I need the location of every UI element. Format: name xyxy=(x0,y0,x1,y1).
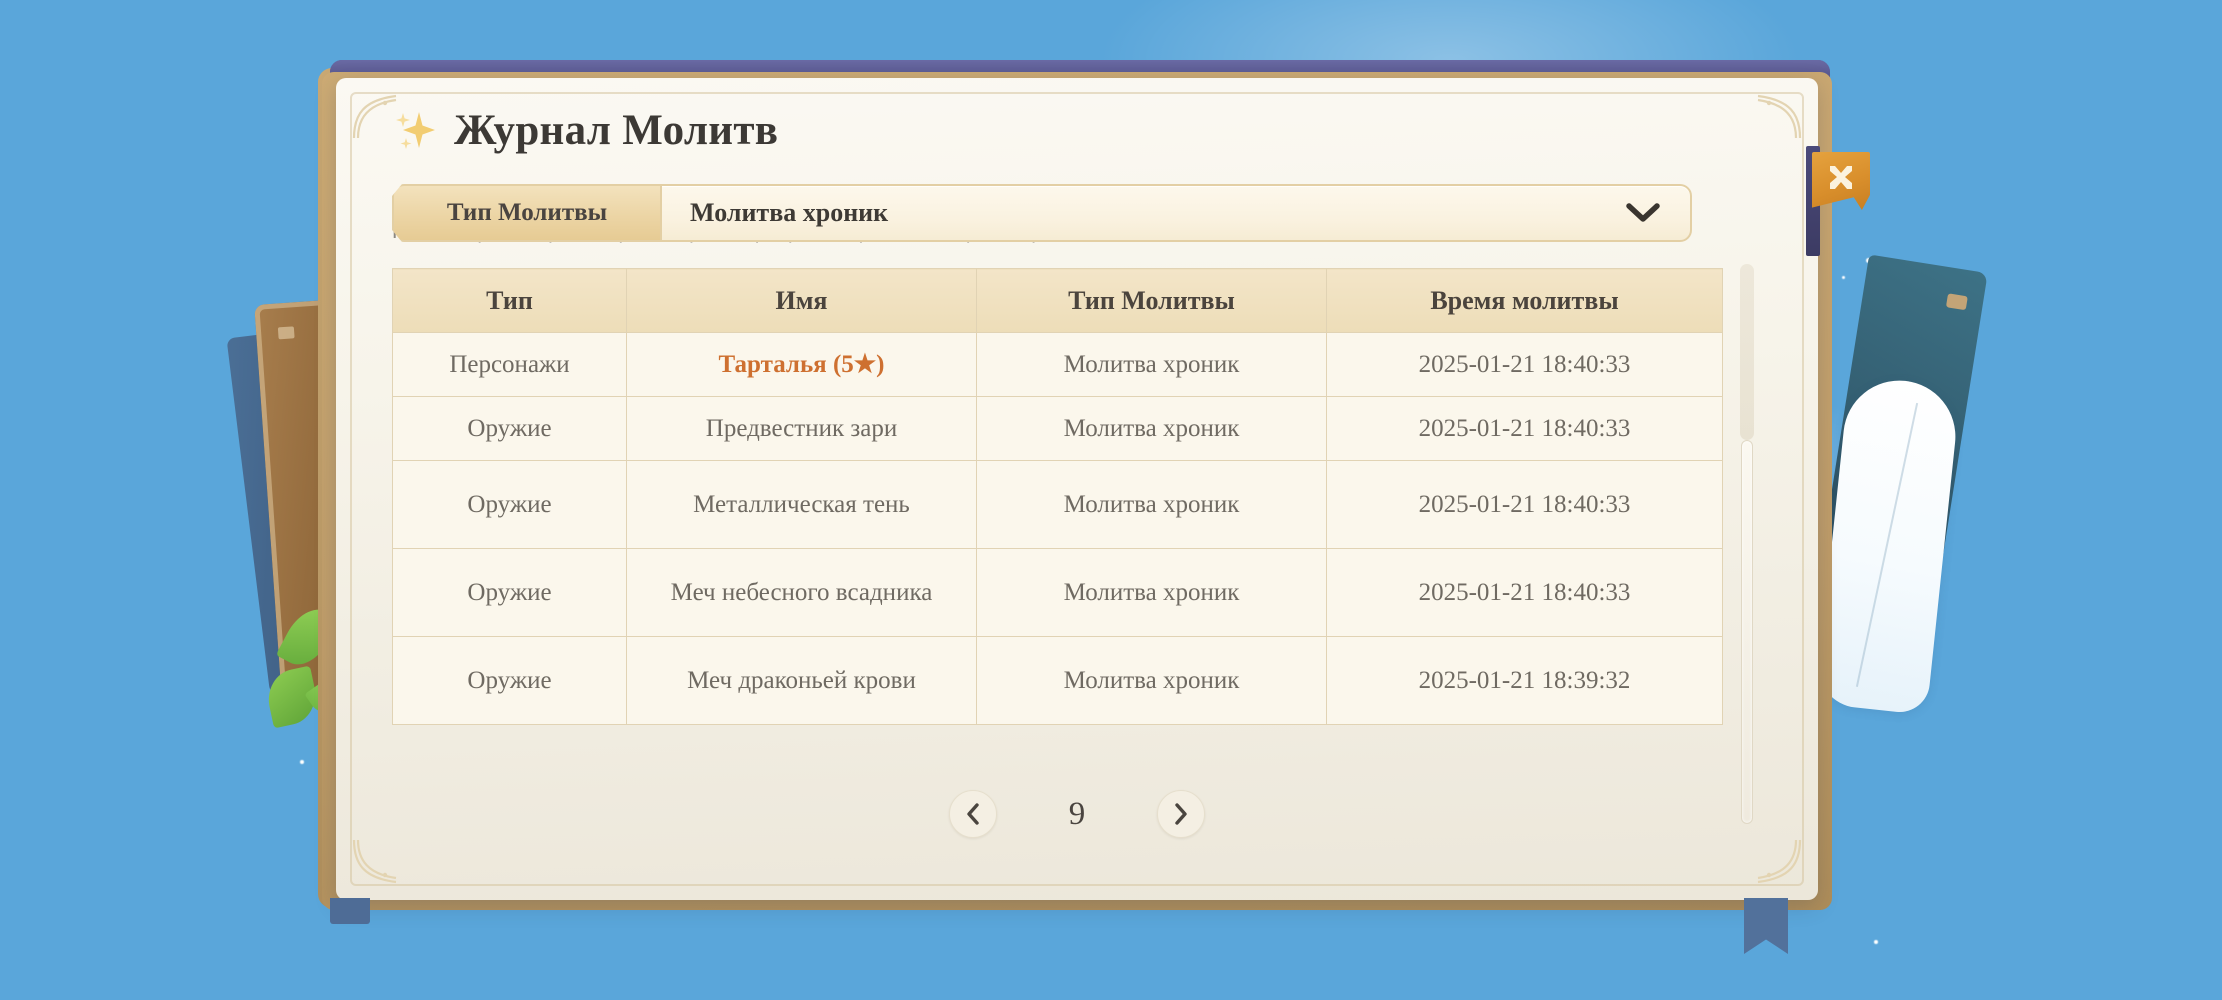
cell-wish-type: Молитва хроник xyxy=(977,397,1327,461)
scrollbar-thumb[interactable] xyxy=(1741,440,1753,824)
table-row: ОружиеПредвестник зариМолитва хроник2025… xyxy=(393,397,1723,461)
cell-wish-type: Молитва хроник xyxy=(977,637,1327,725)
close-button[interactable] xyxy=(1812,152,1870,210)
cell-time: 2025-01-21 18:40:33 xyxy=(1327,333,1723,397)
cell-time: 2025-01-21 18:39:32 xyxy=(1327,637,1723,725)
scrollbar[interactable] xyxy=(1740,264,1754,824)
table-row: ОружиеМеталлическая теньМолитва хроник20… xyxy=(393,461,1723,549)
cell-type: Оружие xyxy=(393,549,627,637)
wish-type-filter: Тип Молитвы Молитва хроник xyxy=(392,184,1692,242)
cell-time: 2025-01-21 18:40:33 xyxy=(1327,461,1723,549)
cell-name: Металлическая тень xyxy=(627,461,977,549)
cell-wish-type: Молитва хроник xyxy=(977,333,1327,397)
cell-time: 2025-01-21 18:40:33 xyxy=(1327,549,1723,637)
corner-ornament-icon xyxy=(1756,838,1802,884)
current-page-number: 9 xyxy=(1057,796,1097,833)
sparkle-icon xyxy=(392,108,438,154)
cell-name: Меч драконьей крови xyxy=(627,637,977,725)
table-row: ПерсонажиТарталья (5★)Молитва хроник2025… xyxy=(393,333,1723,397)
corner-ornament-icon xyxy=(352,838,398,884)
chevron-down-icon xyxy=(1626,202,1660,224)
page-title: Журнал Молитв xyxy=(454,106,778,155)
pagination: 9 xyxy=(336,790,1818,838)
table-header-row: Тип Имя Тип Молитвы Время молитвы xyxy=(393,269,1723,333)
scrollbar-track-upper xyxy=(1740,264,1754,440)
bookmark-ribbon-left xyxy=(330,898,370,924)
table-row: ОружиеМеч небесного всадникаМолитва хрон… xyxy=(393,549,1723,637)
cell-name: Меч небесного всадника xyxy=(627,549,977,637)
close-x-icon xyxy=(1821,160,1861,198)
sparkle-dot xyxy=(300,760,304,764)
sparkle-dot xyxy=(1842,276,1845,279)
table-row: ОружиеМеч драконьей кровиМолитва хроник2… xyxy=(393,637,1723,725)
wish-history-table: Тип Имя Тип Молитвы Время молитвы Персон… xyxy=(392,268,1723,725)
title-row: Журнал Молитв xyxy=(392,106,778,155)
cell-name: Тарталья (5★) xyxy=(627,333,977,397)
previous-page-button[interactable] xyxy=(949,790,997,838)
corner-ornament-icon xyxy=(1756,94,1802,140)
cell-name: Предвестник зари xyxy=(627,397,977,461)
chevron-right-icon xyxy=(1171,802,1191,826)
cell-type: Оружие xyxy=(393,461,627,549)
wish-type-selected-value: Молитва хроник xyxy=(690,198,888,228)
sparkle-dot xyxy=(1874,940,1878,944)
cell-wish-type: Молитва хроник xyxy=(977,549,1327,637)
next-page-button[interactable] xyxy=(1157,790,1205,838)
cell-wish-type: Молитва хроник xyxy=(977,461,1327,549)
cell-type: Оружие xyxy=(393,397,627,461)
table-header: Тип Имя Тип Молитвы Время молитвы xyxy=(393,269,1723,333)
cell-time: 2025-01-21 18:40:33 xyxy=(1327,397,1723,461)
wish-type-select[interactable]: Молитва хроник xyxy=(660,184,1692,242)
filter-label: Тип Молитвы xyxy=(392,184,660,242)
column-header-name: Имя xyxy=(627,269,977,333)
column-header-time: Время молитвы xyxy=(1327,269,1723,333)
cell-type: Оружие xyxy=(393,637,627,725)
wish-history-table-wrapper: Тип Имя Тип Молитвы Время молитвы Персон… xyxy=(392,268,1722,725)
chevron-left-icon xyxy=(963,802,983,826)
cell-type: Персонажи xyxy=(393,333,627,397)
column-header-wish-type: Тип Молитвы xyxy=(977,269,1327,333)
wish-history-panel: Журнал Молитв HK, MO (UTC+8); Asia (UTC+… xyxy=(336,78,1818,900)
table-body: ПерсонажиТарталья (5★)Молитва хроник2025… xyxy=(393,333,1723,725)
column-header-type: Тип xyxy=(393,269,627,333)
